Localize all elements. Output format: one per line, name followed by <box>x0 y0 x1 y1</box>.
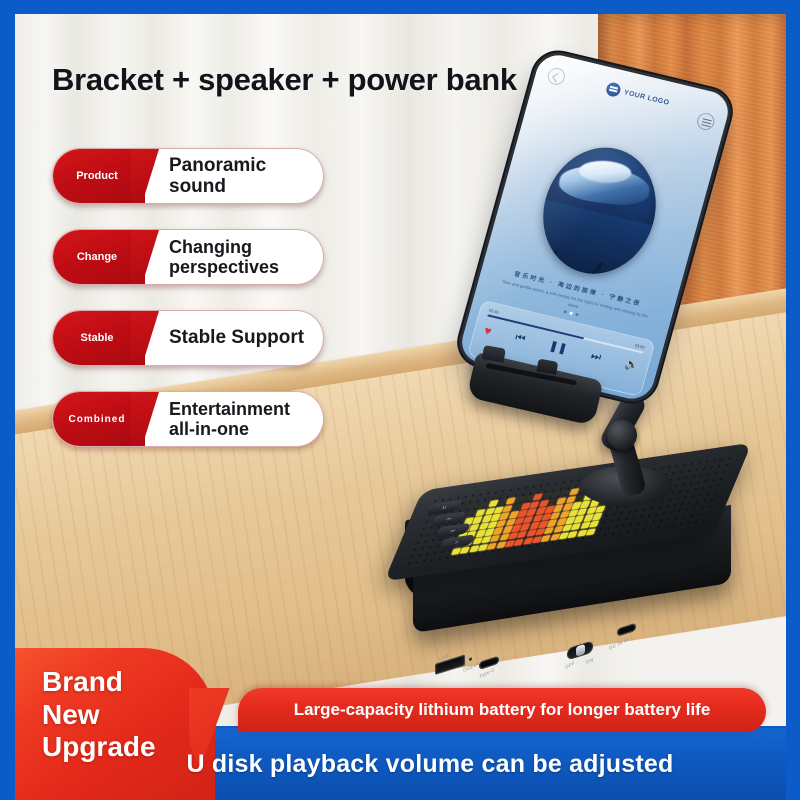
pause-icon[interactable]: ❚❚ <box>548 341 569 356</box>
smartphone: YOUR LOGO 音乐时光 · 海边的旋律 · 宁静之夜 Slow and g… <box>467 58 767 408</box>
dc-in-port[interactable] <box>617 623 636 637</box>
logo-mark-icon <box>605 81 622 98</box>
feature-badge-combined[interactable]: Combined Entertainment all-in-one <box>52 391 324 447</box>
feature-tag-cap: Combined <box>53 392 145 446</box>
volume-icon[interactable]: 🔊 <box>623 359 639 373</box>
time-elapsed: 00:46 <box>488 308 499 315</box>
frame-border-top <box>0 0 800 14</box>
feature-text: Stable Support <box>145 327 323 348</box>
switch-off-label: OFF <box>565 660 575 669</box>
logo-text: YOUR LOGO <box>623 89 670 107</box>
feature-tag-label: Product <box>76 170 118 182</box>
album-artwork <box>529 136 670 285</box>
output-port-label: Output <box>463 661 479 673</box>
cradle-clip-left <box>482 345 506 363</box>
type-c-port[interactable] <box>479 656 499 670</box>
time-total: 03:56 <box>634 343 645 350</box>
next-track-icon[interactable]: ⏭ <box>590 351 603 364</box>
feature-text: Entertainment all-in-one <box>145 399 323 439</box>
feature-tag-cap: Change <box>53 230 145 284</box>
feature-badge-product[interactable]: Product Panoramic sound <box>52 148 324 204</box>
frame-border-left <box>0 0 15 800</box>
page-title: Bracket + speaker + power bank <box>52 62 517 98</box>
feature-badge-list: Product Panoramic sound Change Changing … <box>52 148 324 472</box>
previous-track-icon[interactable]: ⏮ <box>514 332 527 345</box>
feature-badge-stable[interactable]: Stable Stable Support <box>52 310 324 366</box>
speaker-base: USB Output Type-C OFF ON DC IN 5V M <box>407 466 737 641</box>
page-dot <box>563 310 567 314</box>
switch-on-label: ON <box>586 657 594 665</box>
heart-icon[interactable]: ♥ <box>483 325 493 338</box>
status-led <box>469 657 472 661</box>
phone-status-bar: YOUR LOGO <box>530 51 733 141</box>
feature-tag-cap: Product <box>53 149 145 203</box>
red-banner-pill: Large-capacity lithium battery for longe… <box>238 688 766 732</box>
feature-text: Panoramic sound <box>145 155 323 198</box>
menu-icon[interactable] <box>695 111 716 131</box>
page-dot-active <box>569 311 573 315</box>
stand-hinge-joint[interactable] <box>607 420 637 450</box>
brand-line-2: New <box>42 699 156 732</box>
feature-tag-label: Combined <box>69 414 126 425</box>
brand-line-1: Brand <box>42 666 156 699</box>
feature-text: Changing perspectives <box>145 237 323 277</box>
product-marketing-image: USB Output Type-C OFF ON DC IN 5V M <box>0 0 800 800</box>
page-indicator[interactable] <box>563 310 578 316</box>
frame-border-right <box>786 0 800 800</box>
feature-badge-change[interactable]: Change Changing perspectives <box>52 229 324 285</box>
brand-logo: YOUR LOGO <box>605 81 671 110</box>
brand-line-3: Upgrade <box>42 731 156 764</box>
brand-callout-text: Brand New Upgrade <box>42 666 156 764</box>
dc-in-label: DC IN 5V <box>609 636 631 651</box>
feature-tag-cap: Stable <box>53 311 145 365</box>
feature-tag-label: Stable <box>80 332 113 344</box>
feature-tag-label: Change <box>77 251 117 263</box>
back-icon[interactable] <box>546 66 567 86</box>
page-dot <box>575 313 579 317</box>
